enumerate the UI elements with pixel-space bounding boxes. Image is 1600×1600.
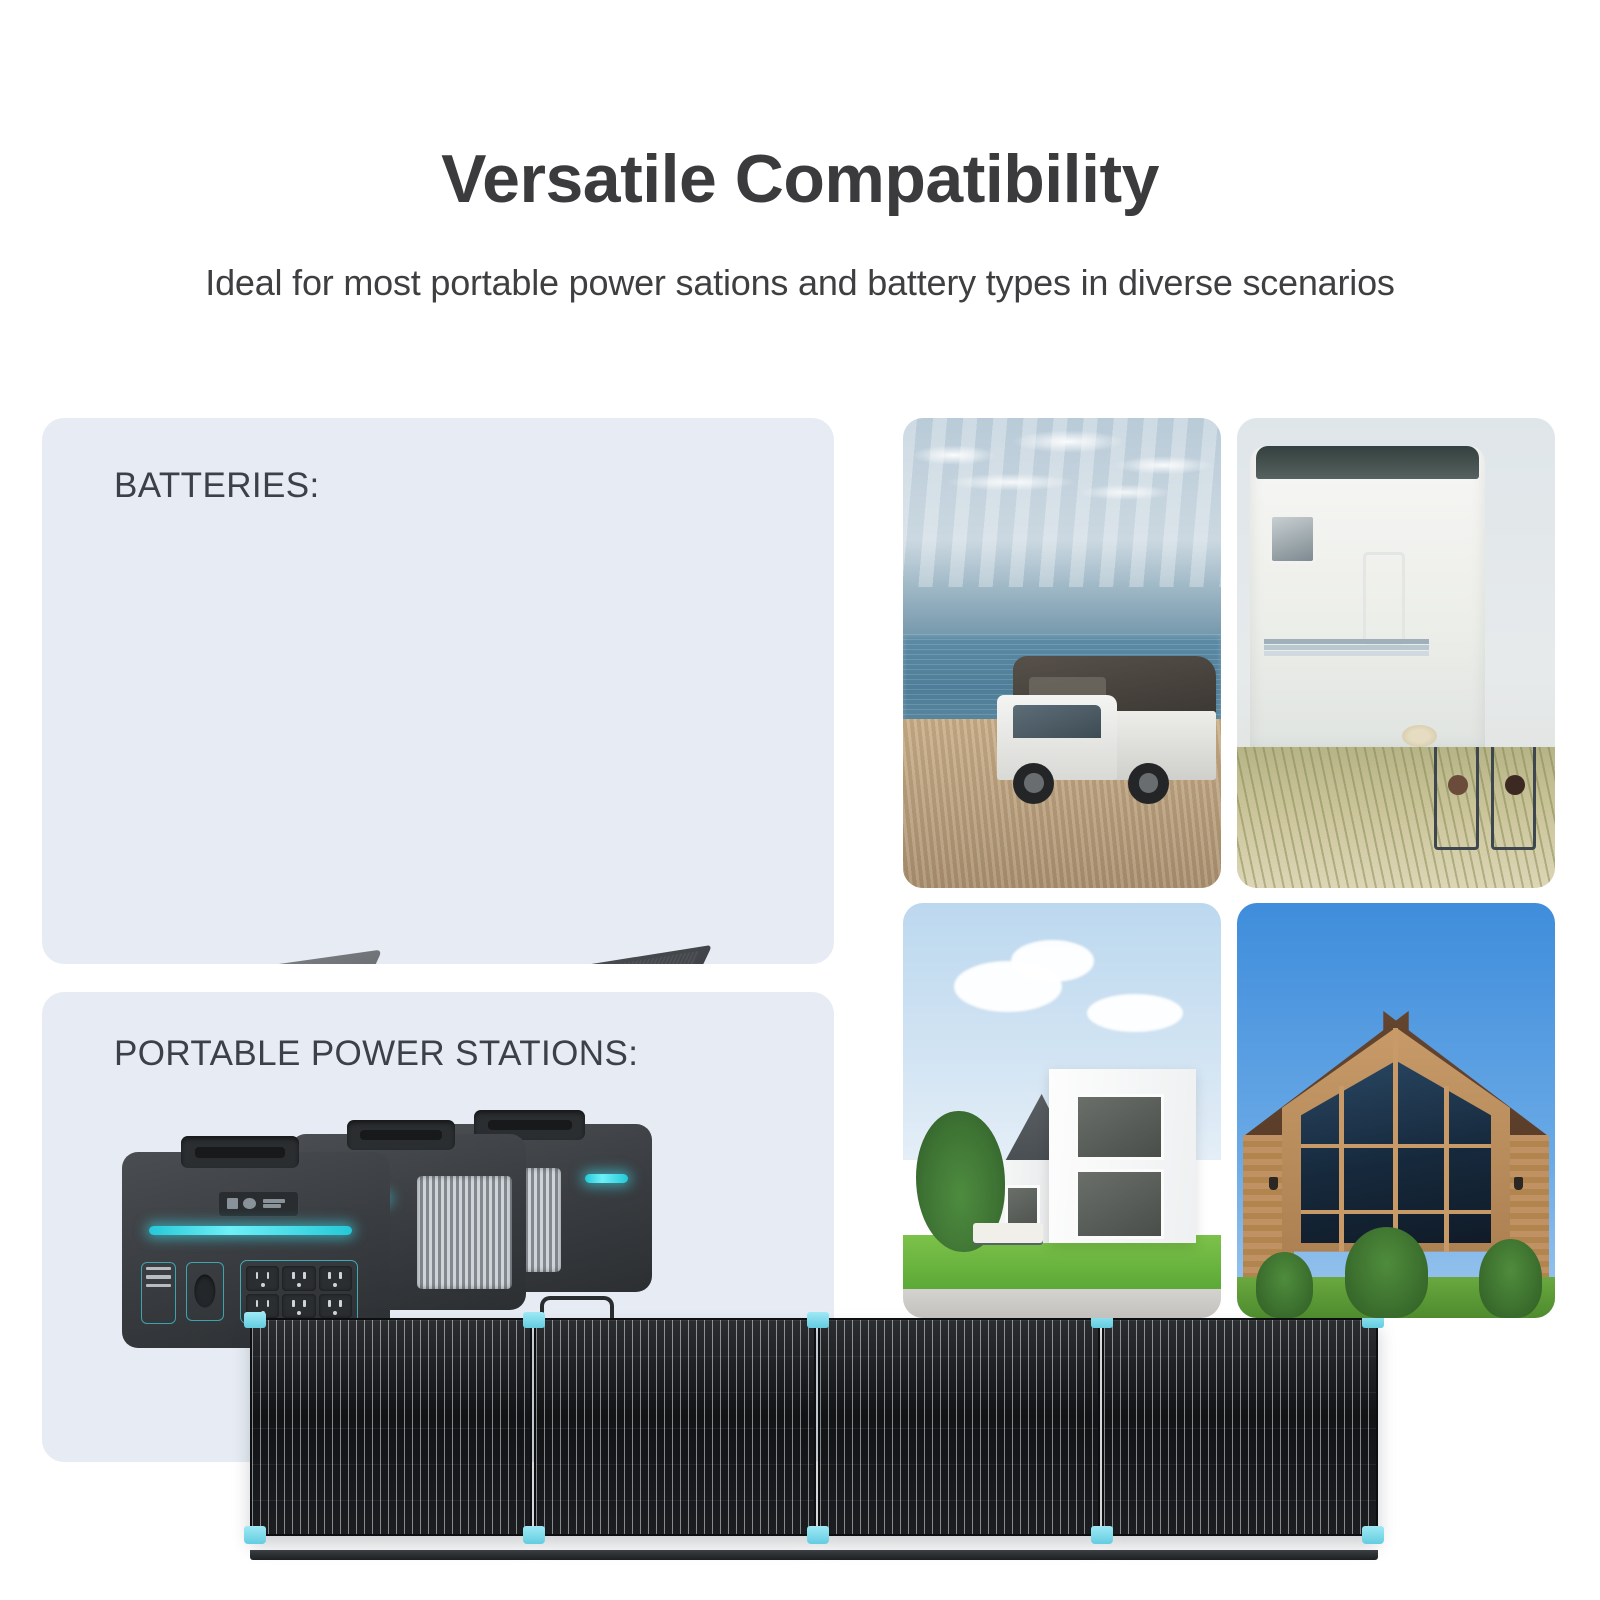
battery-lid: [503, 945, 712, 964]
ac-socket[interactable]: [282, 1294, 315, 1319]
ac-socket[interactable]: [246, 1266, 279, 1291]
product-rego-battery: RENOGY REGO: [497, 956, 817, 964]
window-mullion: [1339, 1086, 1344, 1252]
photo-wood-cabin: [1237, 903, 1555, 1318]
corner-bracket-bottom: [1362, 1526, 1384, 1544]
solar-fold-4: [1102, 1318, 1378, 1536]
rv-stripe: [1264, 639, 1429, 644]
panel-handle: [540, 1296, 614, 1318]
led-light-bar: [585, 1174, 628, 1183]
rv-door: [1363, 552, 1405, 645]
wall-lamp-icon: [1269, 1177, 1278, 1190]
rv-vehicle: [1250, 446, 1485, 756]
window-mullion: [1301, 1144, 1492, 1148]
lcd-display: [218, 1191, 298, 1216]
ac-socket[interactable]: [319, 1266, 352, 1291]
power-stations-card-label: PORTABLE POWER STATIONS:: [114, 1034, 638, 1074]
ac-socket[interactable]: [282, 1266, 315, 1291]
marketing-page: Versatile Compatibility Ideal for most p…: [0, 0, 1600, 1600]
clouds: [903, 418, 1221, 587]
corner-bracket-top: [244, 1312, 266, 1328]
rv-awning: [1256, 446, 1479, 479]
patio-furniture: [973, 1223, 1043, 1244]
camp-chair: [1491, 747, 1536, 850]
house-window: [1075, 1094, 1164, 1160]
power-button[interactable]: [186, 1262, 224, 1321]
ac-socket[interactable]: [319, 1294, 352, 1319]
window-mullion: [1301, 1210, 1492, 1214]
photo-truck-beach: [903, 418, 1221, 888]
sun-hat: [1402, 725, 1437, 747]
truck-wheel: [1013, 763, 1054, 804]
truck-window: [1013, 705, 1101, 738]
page-title: Versatile Compatibility: [0, 140, 1600, 218]
batteries-card: BATTERIES: RENOGY SMART LITHIUM IRON PHO…: [42, 418, 834, 964]
corner-bracket-top: [807, 1312, 829, 1328]
corner-bracket-bottom: [1091, 1526, 1113, 1544]
driveway: [903, 1289, 1221, 1318]
batteries-card-label: BATTERIES:: [114, 466, 320, 506]
corner-bracket-bottom: [523, 1526, 545, 1544]
corner-bracket-top: [523, 1312, 545, 1328]
station-handle: [347, 1120, 456, 1150]
pickup-truck: [948, 662, 1221, 812]
battery-top-face: [165, 949, 382, 964]
window-mullion: [1393, 1028, 1398, 1252]
wall-lamp-icon: [1514, 1177, 1523, 1190]
camp-chair: [1434, 747, 1479, 850]
usb-port-group: [141, 1262, 176, 1325]
house-window: [1075, 1169, 1164, 1240]
bush: [1345, 1227, 1428, 1318]
product-foldable-solar-panel: [250, 1318, 1378, 1550]
solar-fold-2: [534, 1318, 816, 1536]
solar-fold-1: [250, 1318, 532, 1536]
window-mullion: [1444, 1086, 1449, 1252]
truck-wheel: [1128, 763, 1169, 804]
corner-bracket-bottom: [244, 1526, 266, 1544]
corner-bracket-bottom: [807, 1526, 829, 1544]
rv-window: [1269, 514, 1316, 564]
panel-base-edge: [250, 1550, 1378, 1560]
bush: [1479, 1239, 1543, 1318]
vent-grill: [417, 1176, 511, 1289]
station-handle: [181, 1136, 299, 1168]
bush: [1256, 1252, 1313, 1318]
page-subtitle: Ideal for most portable power sations an…: [0, 262, 1600, 304]
led-light-bar: [149, 1226, 353, 1235]
photo-rv-camping: [1237, 418, 1555, 888]
photo-modern-house: [903, 903, 1221, 1318]
solar-fold-3: [818, 1318, 1100, 1536]
